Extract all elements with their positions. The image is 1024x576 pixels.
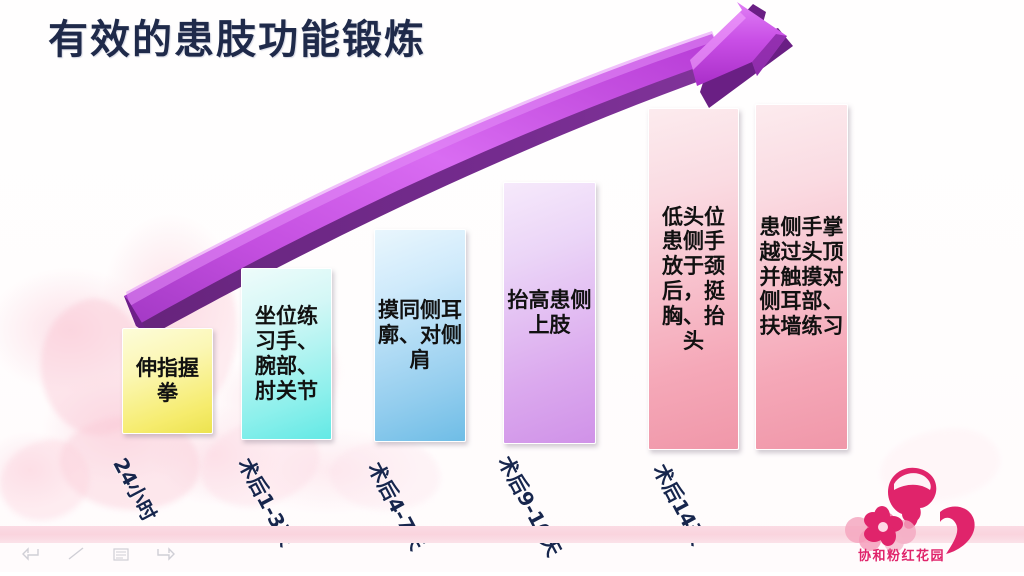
bar-2[interactable]: 坐位练习手、腕部、肘关节 [241, 268, 332, 440]
back-arrow-icon[interactable] [22, 546, 44, 562]
menu-icon[interactable] [110, 546, 132, 562]
ribbon-heart-icon [940, 506, 975, 554]
presentation-toolbar[interactable] [22, 546, 176, 562]
bar-label-5: 低头位患侧手放于颈后，挺胸、抬头 [652, 205, 735, 354]
bar-label-1: 伸指握拳 [126, 356, 209, 406]
brand-logo: 协和粉红花园 [836, 462, 1016, 564]
bar-1[interactable]: 伸指握拳 [122, 328, 213, 434]
bar-6[interactable]: 患侧手掌越过头顶并触摸对侧耳部、扶墙练习 [755, 104, 848, 450]
time-label-4: 术后9-10天 [492, 450, 569, 561]
bar-label-3: 摸同侧耳廓、对侧肩 [378, 298, 462, 372]
pen-icon[interactable] [66, 546, 88, 562]
next-arrow-icon[interactable] [154, 546, 176, 562]
bar-5[interactable]: 低头位患侧手放于颈后，挺胸、抬头 [648, 108, 739, 450]
bar-label-6: 患侧手掌越过头顶并触摸对侧耳部、扶墙练习 [759, 215, 844, 339]
page-title: 有效的患肢功能锻炼 [48, 18, 426, 62]
bar-label-2: 坐位练习手、腕部、肘关节 [245, 304, 328, 403]
bar-3[interactable]: 摸同侧耳廓、对侧肩 [374, 229, 466, 442]
time-label-1: 24小时 [107, 452, 164, 526]
decorative-petal [0, 436, 93, 524]
logo-text-svg: 协和粉红花园 [858, 548, 945, 564]
bar-label-4: 抬高患侧上肢 [507, 288, 592, 338]
bar-4[interactable]: 抬高患侧上肢 [503, 182, 596, 444]
slide-canvas: 有效的患肢功能锻炼 [0, 0, 1024, 572]
